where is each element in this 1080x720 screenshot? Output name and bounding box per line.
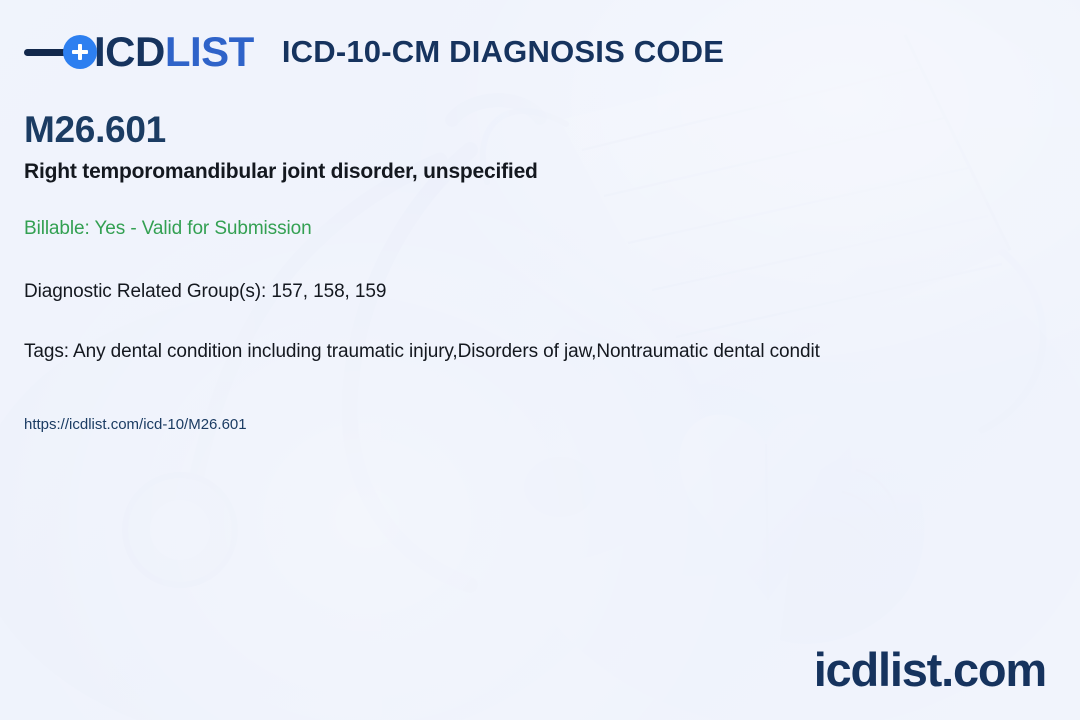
code-details: M26.601 Right temporomandibular joint di… xyxy=(24,110,1080,433)
tags-list: Tags: Any dental condition including tra… xyxy=(24,341,1080,363)
hand-shape xyxy=(780,453,924,644)
page-header: ICDLIST ICD-10-CM DIAGNOSIS CODE xyxy=(24,26,724,78)
diagnosis-description: Right temporomandibular joint disorder, … xyxy=(24,160,1080,184)
logo-wordmark: ICDLIST xyxy=(94,31,254,73)
logo-text-icd: ICD xyxy=(94,28,165,75)
source-url[interactable]: https://icdlist.com/icd-10/M26.601 xyxy=(24,416,1080,433)
icd-code-card: ICDLIST ICD-10-CM DIAGNOSIS CODE M26.601… xyxy=(0,0,1080,720)
paper-heart-shape xyxy=(680,414,852,600)
billable-status: Billable: Yes - Valid for Submission xyxy=(24,218,1080,240)
icdlist-logo[interactable]: ICDLIST xyxy=(24,30,254,74)
plus-circle-icon xyxy=(63,35,97,69)
logo-text-list: LIST xyxy=(165,28,254,75)
page-title: ICD-10-CM DIAGNOSIS CODE xyxy=(282,34,724,70)
diagnosis-code: M26.601 xyxy=(24,110,1080,151)
diagnostic-related-groups: Diagnostic Related Group(s): 157, 158, 1… xyxy=(24,281,1080,303)
footer-brand[interactable]: icdlist.com xyxy=(814,646,1046,693)
